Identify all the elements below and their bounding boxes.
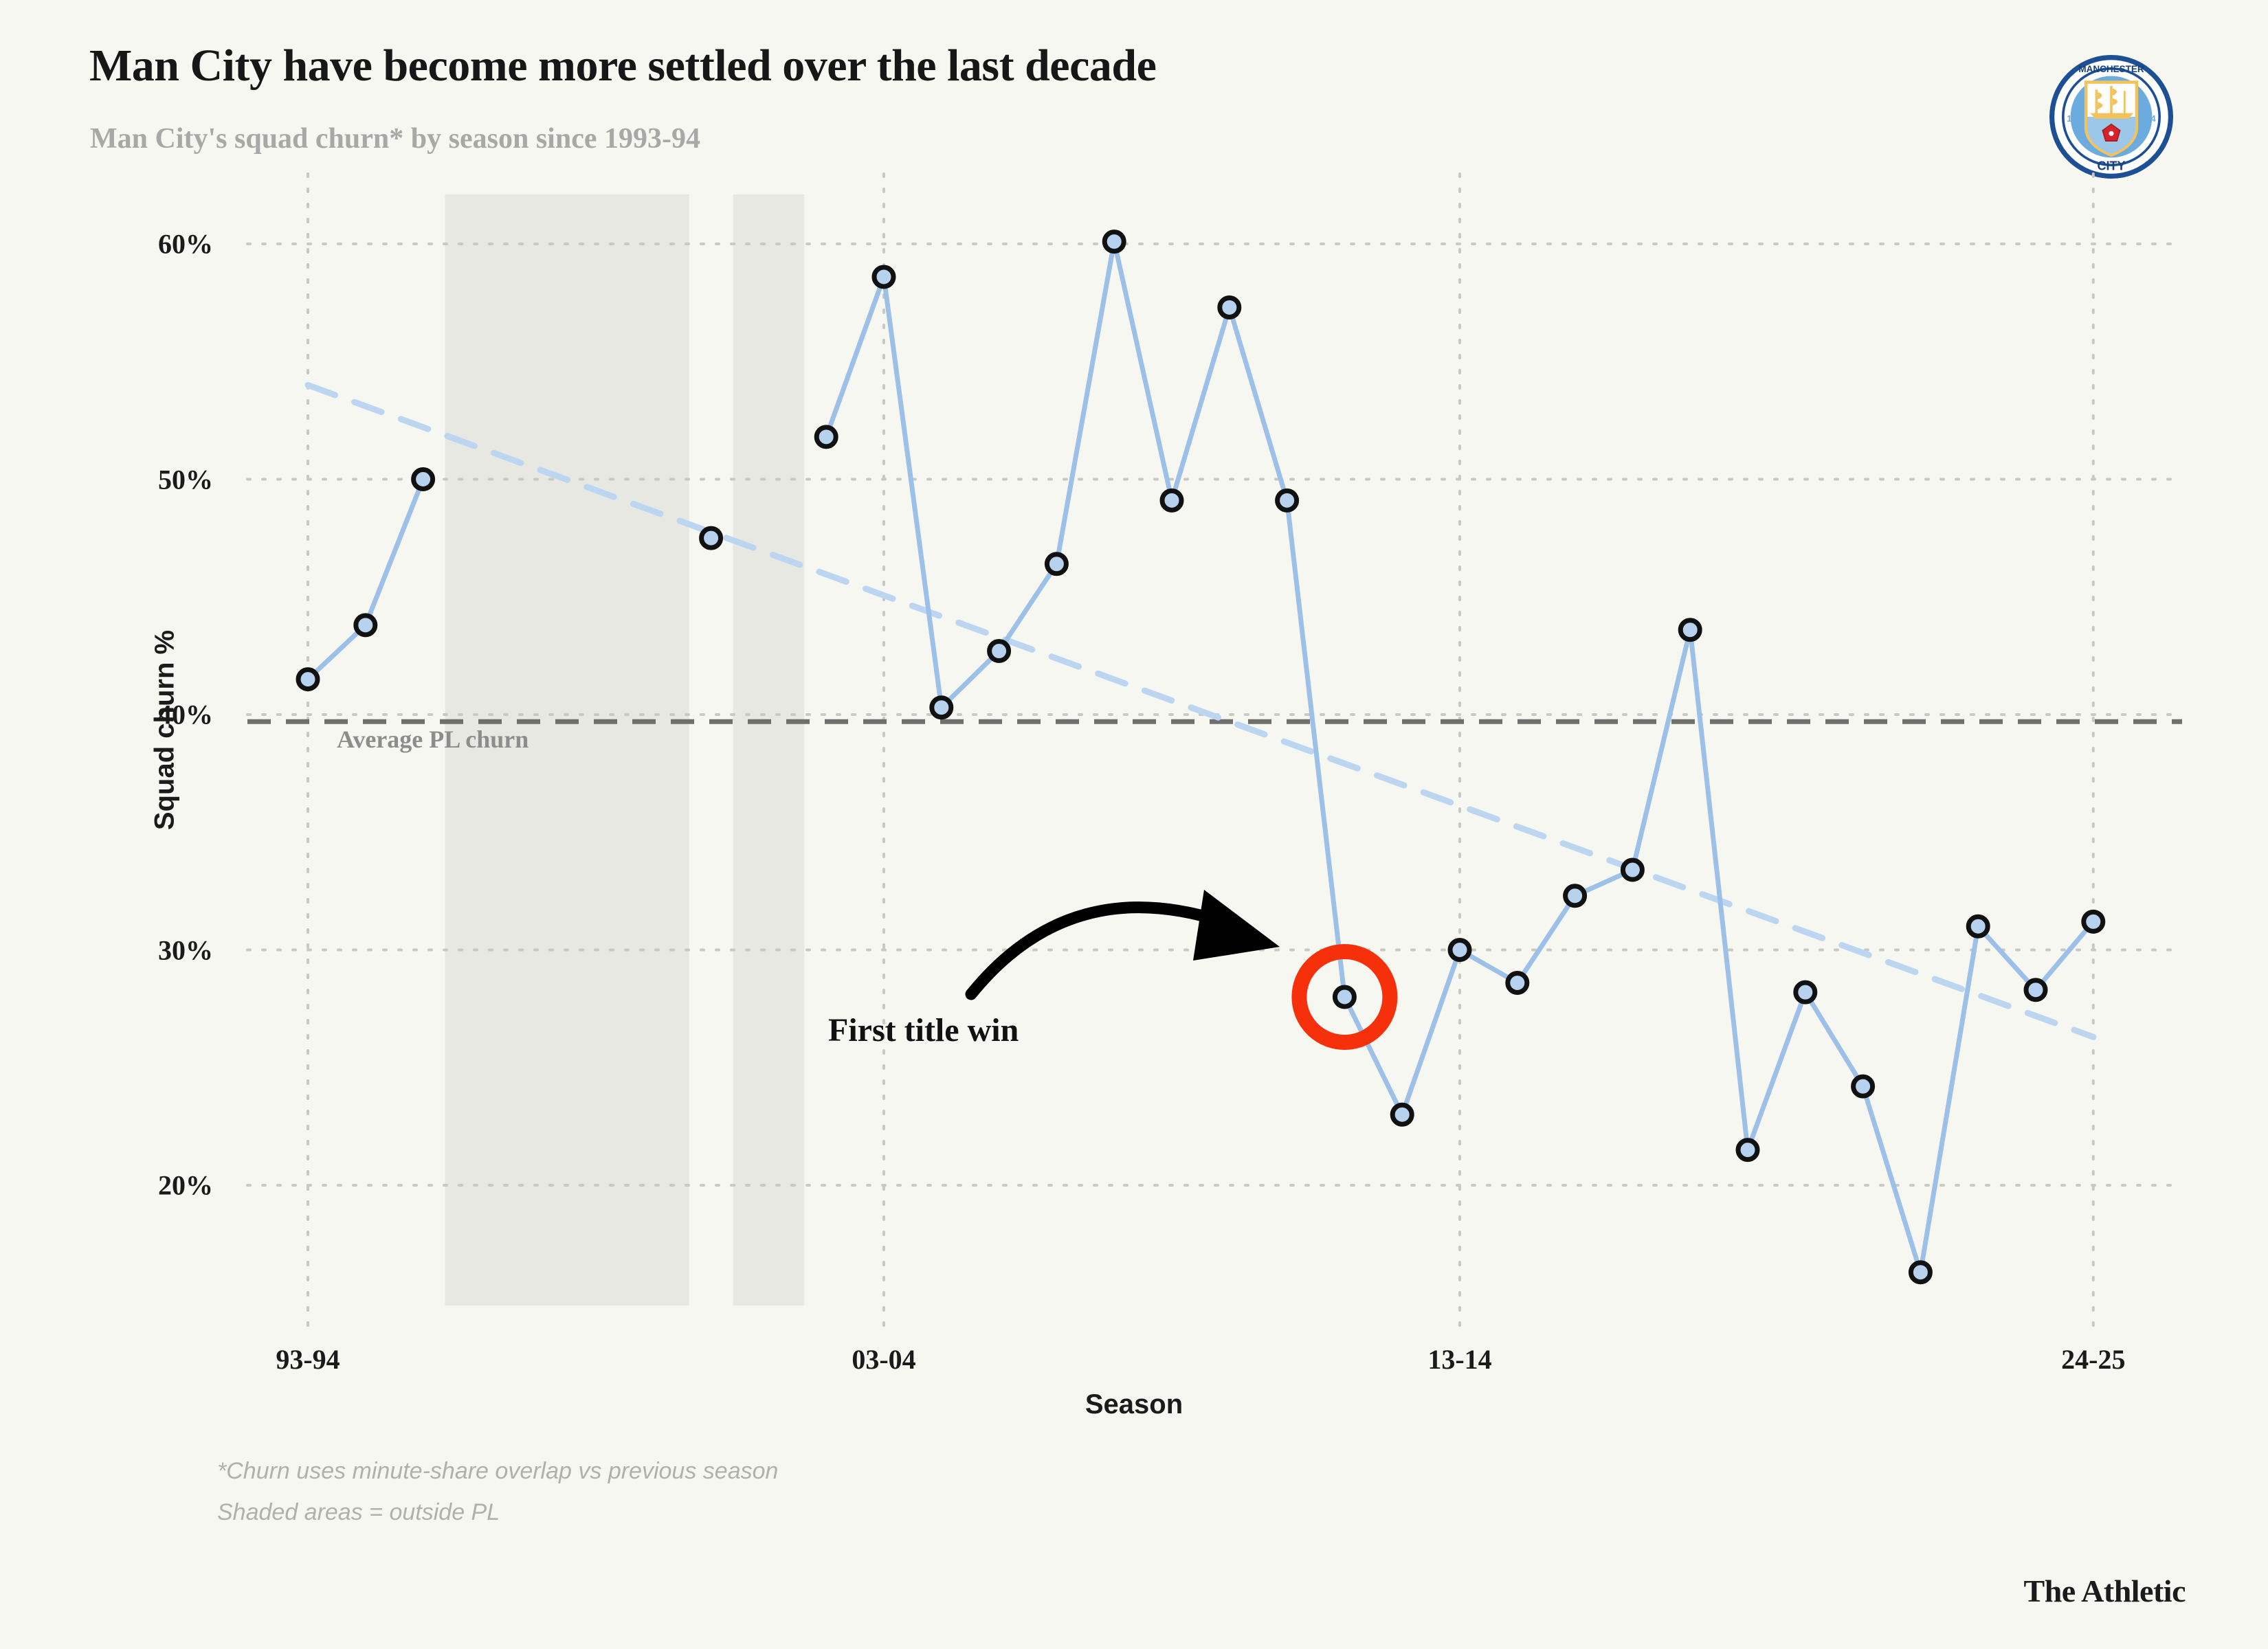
data-point-04-05[interactable] [932, 698, 951, 717]
y-tick-30: 30% [117, 934, 213, 966]
data-point-95-96[interactable] [414, 470, 433, 489]
data-point-16-17[interactable] [1623, 860, 1642, 879]
data-point-12-13[interactable] [1392, 1105, 1412, 1124]
data-point-06-07[interactable] [1047, 554, 1066, 574]
data-point-14-15[interactable] [1508, 973, 1527, 992]
x-tick-13-14: 13-14 [1427, 1343, 1491, 1376]
chart-container: Man City have become more settled over t… [0, 0, 2268, 1649]
data-point-19-20[interactable] [1796, 983, 1815, 1002]
data-point-94-95[interactable] [356, 616, 375, 635]
data-point-15-16[interactable] [1566, 886, 1585, 906]
footnote-shaded-areas: Shaded areas = outside PL [217, 1499, 500, 1526]
x-tick-24-25: 24-25 [2061, 1343, 2125, 1376]
first-title-win-label: First title win [828, 1011, 1019, 1049]
data-point-17-18[interactable] [1680, 620, 1700, 640]
data-point-03-04[interactable] [874, 267, 893, 287]
data-point-09-10[interactable] [1220, 298, 1239, 317]
y-tick-60: 60% [117, 228, 213, 260]
data-point-11-12[interactable] [1335, 987, 1354, 1007]
y-tick-50: 50% [117, 463, 213, 495]
y-axis-label: Squad churn % [150, 538, 181, 923]
data-point-02-03[interactable] [816, 427, 836, 447]
data-point-21-22[interactable] [1911, 1263, 1930, 1282]
y-tick-20: 20% [117, 1169, 213, 1202]
data-point-22-23[interactable] [1968, 917, 1988, 936]
data-point-00-01[interactable] [702, 528, 721, 548]
callout-arrow-icon [971, 890, 1280, 994]
x-tick-03-04: 03-04 [852, 1343, 915, 1376]
data-point-24-25[interactable] [2084, 912, 2103, 931]
average-pl-churn-label: Average PL churn [337, 725, 529, 754]
data-point-23-24[interactable] [2026, 980, 2045, 1000]
data-point-20-21[interactable] [1854, 1077, 1873, 1096]
data-point-08-09[interactable] [1162, 491, 1181, 510]
data-point-93-94[interactable] [298, 670, 318, 689]
x-tick-93-94: 93-94 [276, 1343, 340, 1376]
footnote-churn-definition: *Churn uses minute-share overlap vs prev… [217, 1458, 778, 1485]
data-point-18-19[interactable] [1738, 1141, 1757, 1160]
the-athletic-logo: The Athletic [2024, 1573, 2186, 1609]
data-point-07-08[interactable] [1104, 232, 1124, 251]
data-point-05-06[interactable] [990, 642, 1009, 661]
data-point-13-14[interactable] [1450, 941, 1469, 960]
x-axis-label: Season [0, 1389, 2268, 1420]
data-point-10-11[interactable] [1278, 491, 1297, 510]
